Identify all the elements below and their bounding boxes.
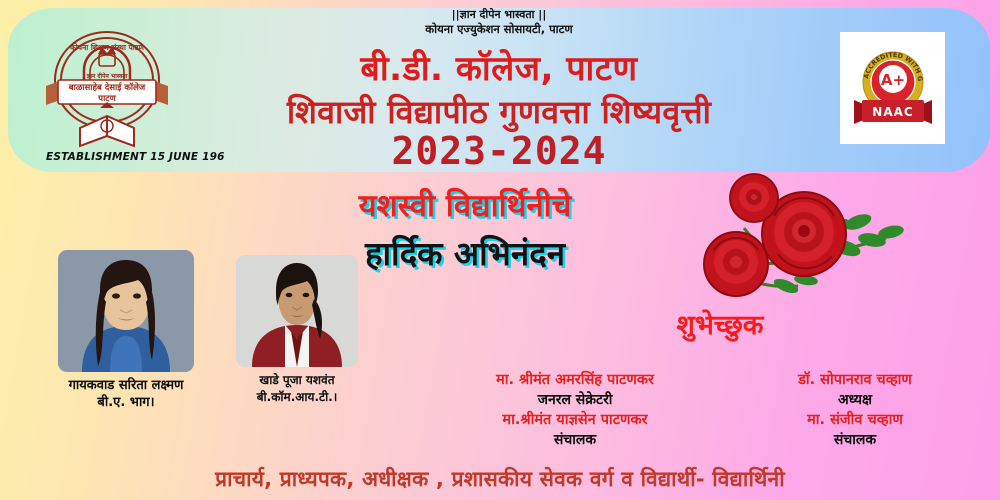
footer-credits: प्राचार्य, प्राध्यपक, अधीक्षक , प्रशासकी… [0, 465, 1000, 493]
wisher-role: जनरल सेक्रेटरी [430, 390, 720, 410]
wisher-name: डॉ. सोपानराव चव्हाण [730, 370, 980, 390]
svg-text:NAAC: NAAC [872, 105, 913, 119]
wisher-role: संचालक [430, 430, 720, 450]
wisher-column: मा. श्रीमंत अमरसिंह पाटणकर जनरल सेक्रेटर… [430, 370, 720, 450]
wisher-name: मा.श्रीमंत याज्ञसेन पाटणकर [430, 410, 720, 430]
student-course: बी.कॉम.आय.टी.। [236, 389, 358, 406]
svg-text:A+: A+ [880, 71, 904, 89]
student-photo [58, 250, 194, 372]
student-photo [236, 255, 358, 367]
student-name: खाडे पूजा यशवंत [236, 372, 358, 389]
award-headline-line1: यशस्वी विद्यार्थिनीचे [255, 184, 675, 226]
student-course: बी.ए. भाग। [58, 394, 194, 411]
naac-accreditation-badge-icon: A+ ACCREDITED WITH GRADE NAAC [840, 32, 945, 144]
society-motto: ||ज्ञान दीपेन भास्वता || [8, 8, 990, 22]
wisher-role: अध्यक्ष [730, 390, 980, 410]
wisher-name: मा. श्रीमंत अमरसिंह पाटणकर [430, 370, 720, 390]
header-banner: कोयना शिक्षण संस्था पाटण ज्ञान दीपेन भास… [8, 8, 990, 172]
wisher-name: मा. संजीव चव्हाण [730, 410, 980, 430]
student-card: गायकवाड सरिता लक्ष्मण बी.ए. भाग। [58, 250, 194, 411]
wisher-role: संचालक [730, 430, 980, 450]
student-name: गायकवाड सरिता लक्ष्मण [58, 377, 194, 394]
student-card: खाडे पूजा यशवंत बी.कॉम.आय.टी.। [236, 255, 358, 406]
wishers-heading: शुभेच्छुक [585, 305, 855, 342]
red-roses-bouquet-image [686, 172, 946, 302]
wisher-column: डॉ. सोपानराव चव्हाण अध्यक्ष मा. संजीव चव… [730, 370, 980, 450]
